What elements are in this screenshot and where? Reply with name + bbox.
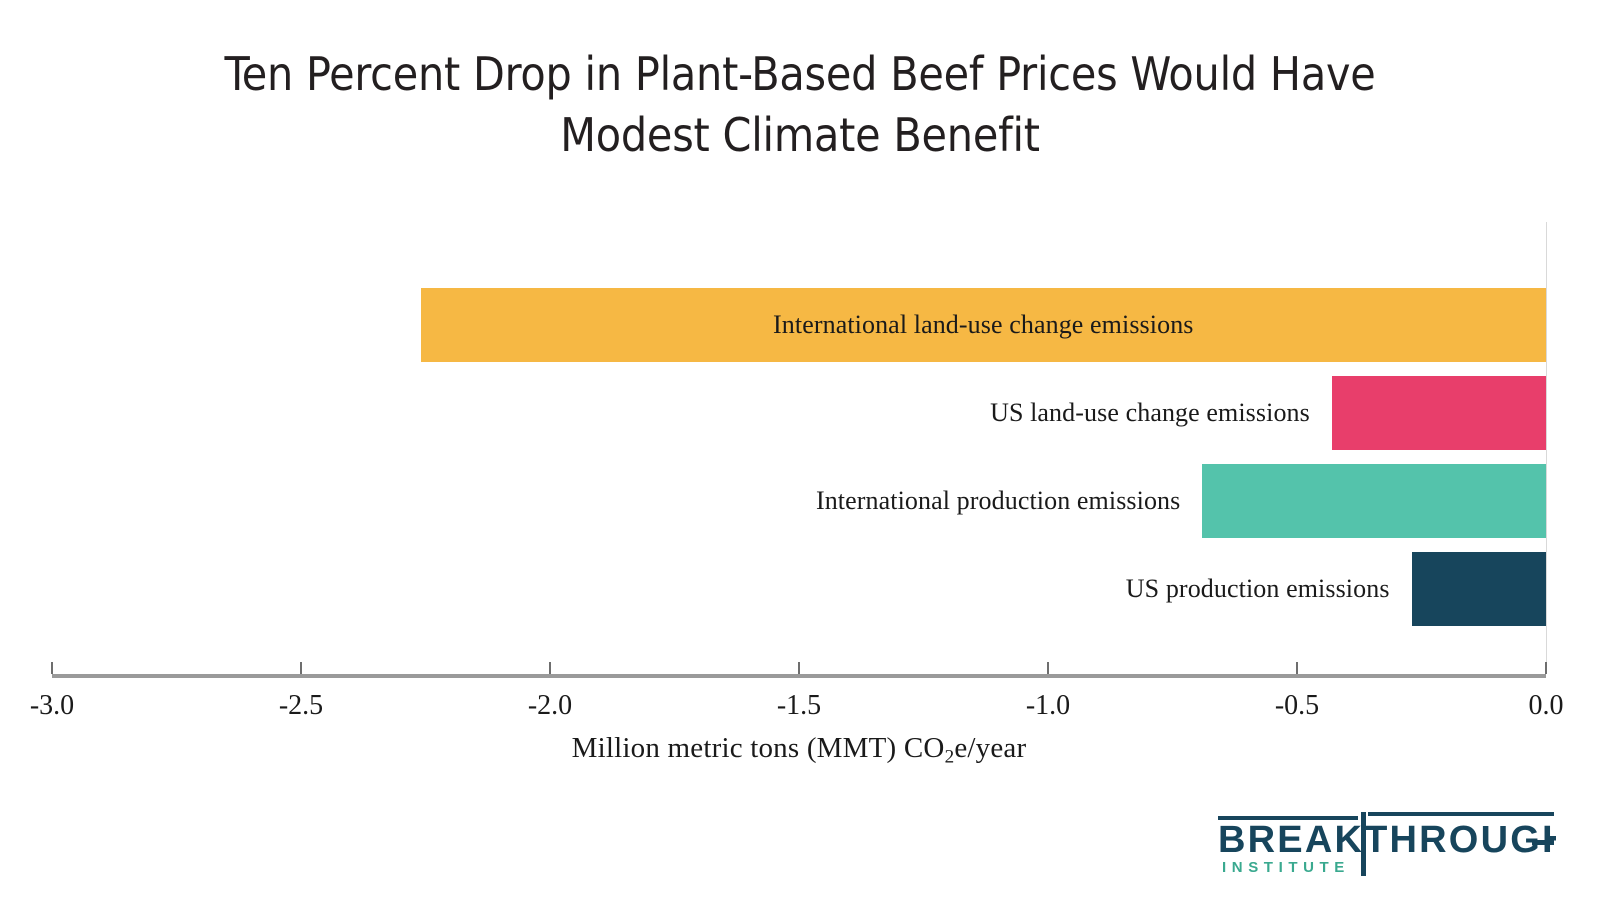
x-axis-tick bbox=[798, 662, 800, 674]
bar-row: International land-use change emissions bbox=[52, 288, 1546, 362]
bar-label: International land-use change emissions bbox=[773, 310, 1194, 340]
x-axis-tick bbox=[549, 662, 551, 674]
x-axis-tick bbox=[300, 662, 302, 674]
x-axis-tick-label: 0.0 bbox=[1529, 690, 1564, 722]
bar-3[interactable]: International production emissions bbox=[1202, 464, 1546, 538]
bar-2[interactable]: US land-use change emissions bbox=[1332, 376, 1546, 450]
x-axis-tick bbox=[1545, 662, 1547, 674]
logo-mark: BREAKTHROUGH INSTITUTE bbox=[1216, 800, 1556, 876]
x-axis-title-prefix: Million metric tons (MMT) CO bbox=[572, 732, 945, 764]
x-axis-tick-label: -2.0 bbox=[528, 690, 572, 722]
bar-label: International production emissions bbox=[816, 486, 1180, 516]
bar-label: US production emissions bbox=[1126, 574, 1390, 604]
x-axis: -3.0-2.5-2.0-1.5-1.0-0.50.0 bbox=[52, 674, 1546, 678]
svg-text:BREAKTHROUGH: BREAKTHROUGH bbox=[1218, 819, 1556, 861]
x-axis-tick bbox=[51, 662, 53, 674]
bar-row: International production emissions bbox=[52, 464, 1546, 538]
page-title: Ten Percent Drop in Plant-Based Beef Pri… bbox=[140, 44, 1460, 166]
chart-figure: Ten Percent Drop in Plant-Based Beef Pri… bbox=[0, 0, 1600, 902]
chart-title-line-2: Modest Climate Benefit bbox=[560, 108, 1040, 162]
x-axis-tick-label: -1.5 bbox=[777, 690, 821, 722]
x-axis-tick-label: -0.5 bbox=[1275, 690, 1319, 722]
bar-1[interactable]: International land-use change emissions bbox=[421, 288, 1546, 362]
plot-frame-right-edge bbox=[1546, 222, 1547, 674]
chart-title-line-1: Ten Percent Drop in Plant-Based Beef Pri… bbox=[224, 47, 1375, 101]
bar-label: US land-use change emissions bbox=[990, 398, 1310, 428]
x-axis-tick-label: -2.5 bbox=[279, 690, 323, 722]
x-axis-tick-label: -1.0 bbox=[1026, 690, 1070, 722]
x-axis-title-subscript: 2 bbox=[945, 746, 955, 767]
x-axis-tick bbox=[1296, 662, 1298, 674]
x-axis-tick bbox=[1047, 662, 1049, 674]
bar-row: US land-use change emissions bbox=[52, 376, 1546, 450]
svg-text:INSTITUTE: INSTITUTE bbox=[1222, 859, 1350, 876]
x-axis-title: Million metric tons (MMT) CO2e/year bbox=[52, 732, 1546, 768]
plot-area: International land-use change emissionsU… bbox=[52, 222, 1546, 674]
x-axis-tick-label: -3.0 bbox=[30, 690, 74, 722]
bar-4[interactable]: US production emissions bbox=[1412, 552, 1546, 626]
breakthrough-institute-logo: BREAKTHROUGH INSTITUTE bbox=[1216, 800, 1556, 876]
bar-row: US production emissions bbox=[52, 552, 1546, 626]
x-axis-title-suffix: e/year bbox=[954, 732, 1026, 764]
